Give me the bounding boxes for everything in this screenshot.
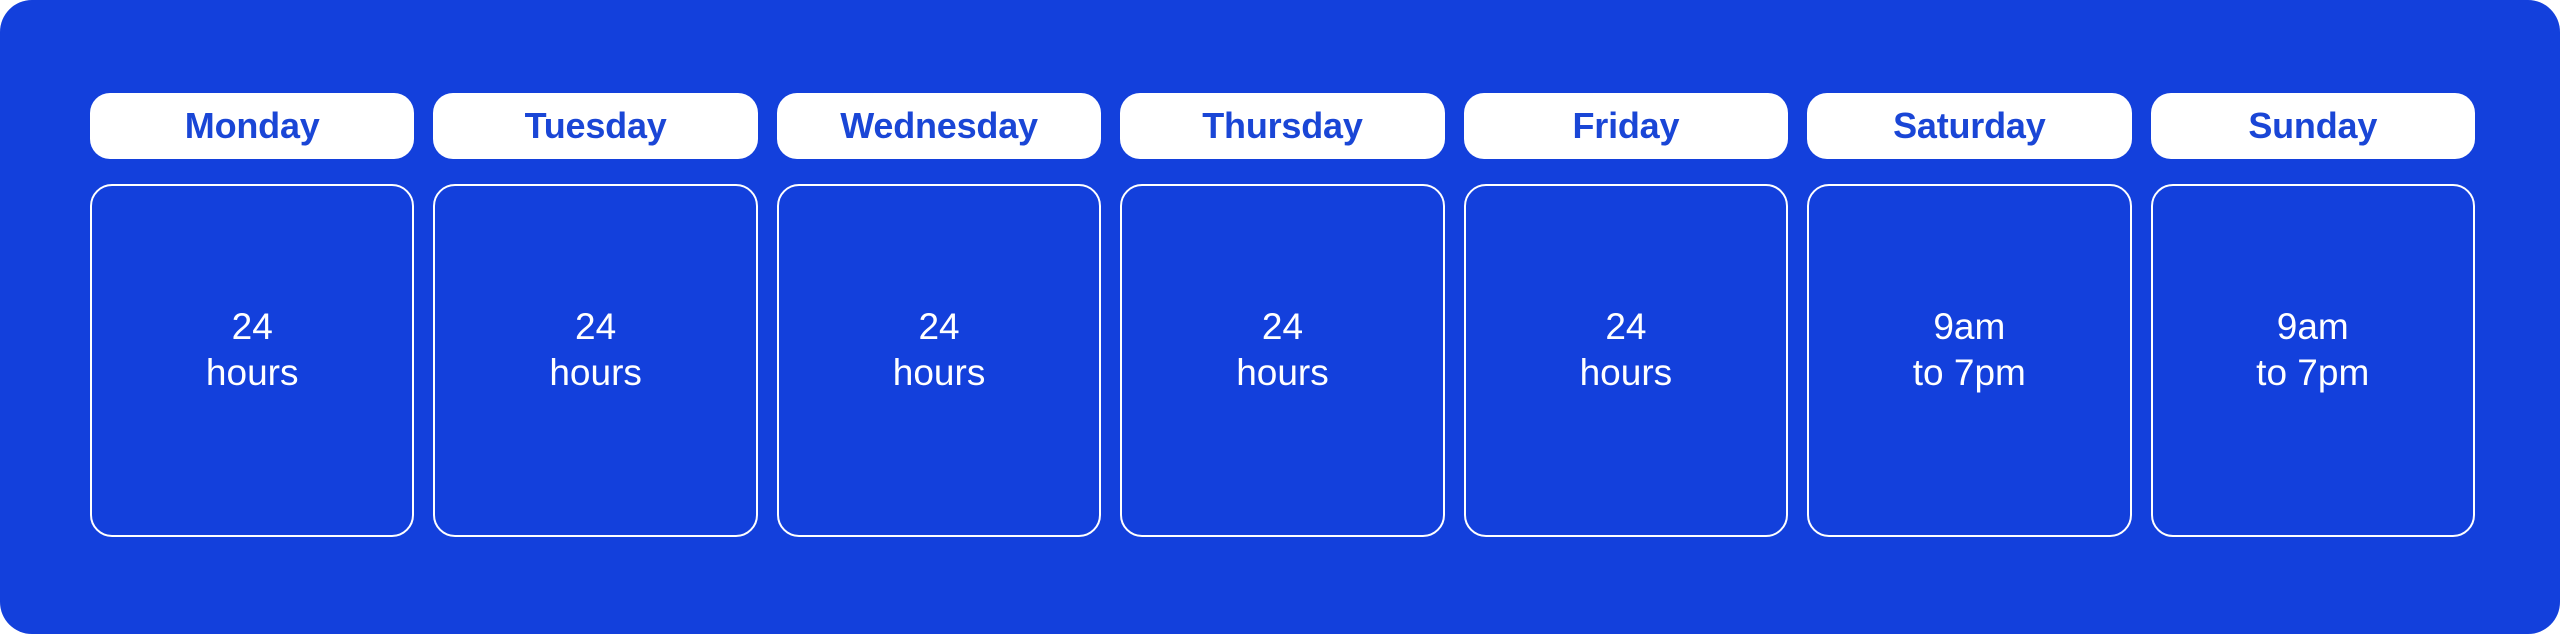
day-column-friday: Friday 24 hours xyxy=(1464,93,1788,537)
day-column-thursday: Thursday 24 hours xyxy=(1120,93,1444,537)
day-name-label: Saturday xyxy=(1893,108,2045,144)
hours-line-secondary: hours xyxy=(893,350,986,395)
day-pill-friday[interactable]: Friday xyxy=(1464,93,1788,159)
day-name-label: Friday xyxy=(1572,108,1679,144)
day-pill-tuesday[interactable]: Tuesday xyxy=(433,93,757,159)
day-columns: Monday 24 hours Tuesday 24 hours Wednesd… xyxy=(90,93,2475,537)
day-column-saturday: Saturday 9am to 7pm xyxy=(1807,93,2131,537)
hours-line-primary: 24 xyxy=(575,304,616,349)
hours-card-saturday: 9am to 7pm xyxy=(1807,184,2131,537)
day-name-label: Tuesday xyxy=(525,108,667,144)
day-name-label: Wednesday xyxy=(840,108,1038,144)
weekly-hours-panel: Monday 24 hours Tuesday 24 hours Wednesd… xyxy=(0,0,2560,634)
day-column-sunday: Sunday 9am to 7pm xyxy=(2151,93,2475,537)
day-pill-saturday[interactable]: Saturday xyxy=(1807,93,2131,159)
day-name-label: Sunday xyxy=(2248,108,2377,144)
day-column-wednesday: Wednesday 24 hours xyxy=(777,93,1101,537)
day-pill-monday[interactable]: Monday xyxy=(90,93,414,159)
day-column-monday: Monday 24 hours xyxy=(90,93,414,537)
hours-line-primary: 24 xyxy=(1262,304,1303,349)
hours-line-secondary: hours xyxy=(1236,350,1329,395)
hours-card-monday: 24 hours xyxy=(90,184,414,537)
hours-card-wednesday: 24 hours xyxy=(777,184,1101,537)
day-pill-sunday[interactable]: Sunday xyxy=(2151,93,2475,159)
day-column-tuesday: Tuesday 24 hours xyxy=(433,93,757,537)
hours-line-secondary: hours xyxy=(1580,350,1673,395)
day-name-label: Monday xyxy=(185,108,320,144)
hours-line-primary: 9am xyxy=(1933,304,2005,349)
day-pill-wednesday[interactable]: Wednesday xyxy=(777,93,1101,159)
hours-card-friday: 24 hours xyxy=(1464,184,1788,537)
hours-line-primary: 24 xyxy=(918,304,959,349)
hours-line-secondary: to 7pm xyxy=(2256,350,2369,395)
hours-line-secondary: hours xyxy=(549,350,642,395)
hours-line-secondary: to 7pm xyxy=(1913,350,2026,395)
day-name-label: Thursday xyxy=(1202,108,1362,144)
hours-card-tuesday: 24 hours xyxy=(433,184,757,537)
hours-line-secondary: hours xyxy=(206,350,299,395)
hours-card-thursday: 24 hours xyxy=(1120,184,1444,537)
hours-line-primary: 24 xyxy=(232,304,273,349)
hours-line-primary: 9am xyxy=(2277,304,2349,349)
day-pill-thursday[interactable]: Thursday xyxy=(1120,93,1444,159)
hours-line-primary: 24 xyxy=(1605,304,1646,349)
hours-card-sunday: 9am to 7pm xyxy=(2151,184,2475,537)
